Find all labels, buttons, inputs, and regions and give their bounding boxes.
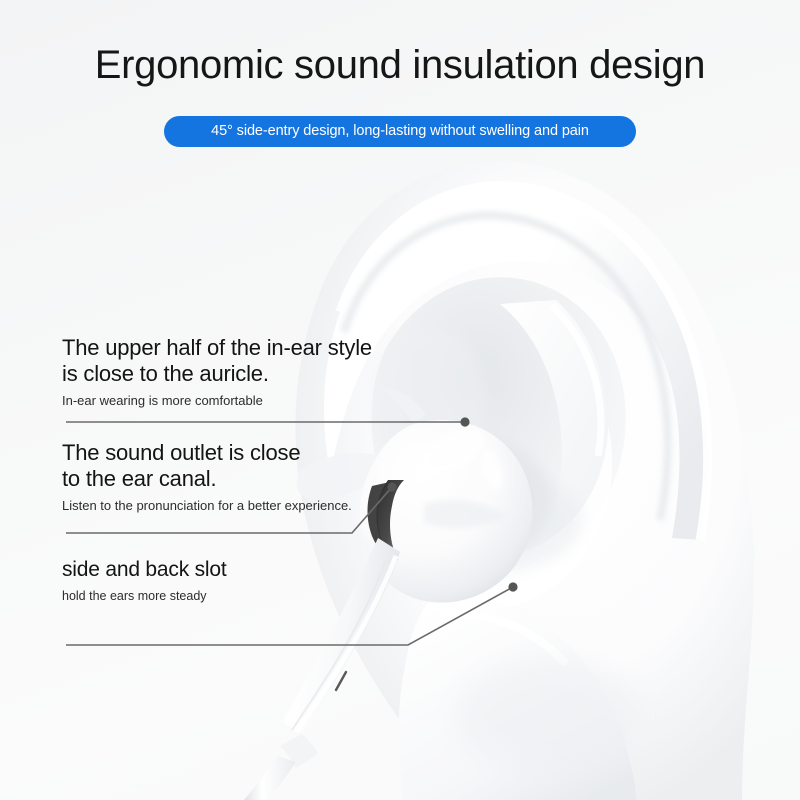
feature-badge: 45° side-entry design, long-lasting with… xyxy=(164,116,636,147)
annotation-sound-outlet: The sound outlet is close to the ear can… xyxy=(62,440,352,513)
product-feature-image: Ergonomic sound insulation design 45° si… xyxy=(0,0,800,800)
annotation-side-and-back-slot: side and back slot hold the ears more st… xyxy=(62,558,227,603)
annotation-title-line1: The sound outlet is close xyxy=(62,440,352,466)
leader-dot-1 xyxy=(460,417,469,426)
leader-dots xyxy=(387,417,517,591)
annotation-subtitle: hold the ears more steady xyxy=(62,589,227,603)
annotation-title-line2: is close to the auricle. xyxy=(62,361,372,387)
annotation-subtitle: In-ear wearing is more comfortable xyxy=(62,393,372,408)
page-title: Ergonomic sound insulation design xyxy=(0,44,800,86)
annotation-title-line1: side and back slot xyxy=(62,558,227,583)
annotation-title-line2: to the ear canal. xyxy=(62,466,352,492)
annotation-subtitle: Listen to the pronunciation for a better… xyxy=(62,498,352,513)
annotation-upper-half-in-ear: The upper half of the in-ear style is cl… xyxy=(62,335,372,408)
annotation-title-line1: The upper half of the in-ear style xyxy=(62,335,372,361)
ear-shape xyxy=(296,162,755,800)
leader-dot-3 xyxy=(508,582,517,591)
leader-dot-2 xyxy=(387,482,396,491)
